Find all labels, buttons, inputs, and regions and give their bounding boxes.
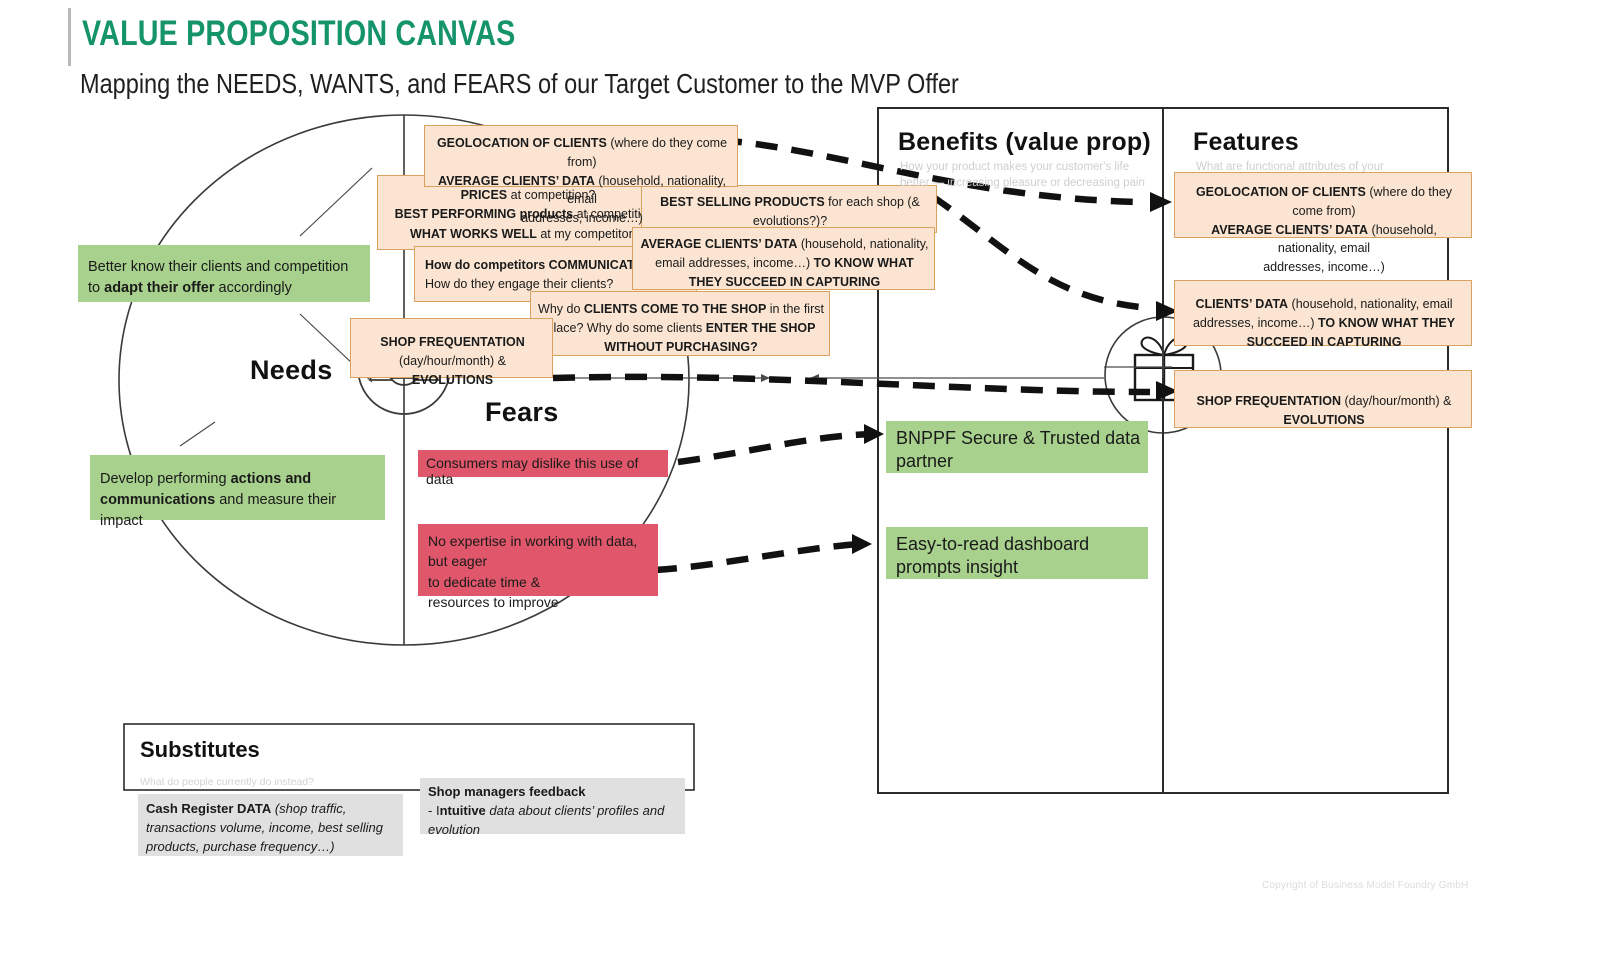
feat3-l1: (day/hour/month) & (1341, 394, 1451, 408)
feature-box-clients-data[interactable]: CLIENTS’ DATA (household, nationality, e… (1174, 280, 1472, 346)
note6-l3: Why do some clients (587, 321, 706, 335)
fear-2-line-2: to dedicate time & (428, 572, 650, 592)
feat3-l1-bold: SHOP FREQUENTATION (1197, 394, 1341, 408)
benefit-box-dashboard[interactable]: Easy-to-read dashboard prompts insight (886, 527, 1148, 579)
benefits-subtitle-line-2: better — increasing pleasure or decreasi… (900, 176, 1150, 192)
arrow-data-to-feature (932, 196, 1150, 308)
substitute-box-cash-register[interactable]: Cash Register DATA (shop traffic, transa… (138, 794, 403, 856)
feat2-l1-bold: CLIENTS’ DATA (1195, 297, 1288, 311)
feat2-l2: income…) (1258, 316, 1318, 330)
title-accent-rule (68, 8, 71, 66)
note2-l3-bold: WHAT WORKS WELL (410, 227, 537, 241)
page-title: VALUE PROPOSITION CANVAS (82, 14, 515, 54)
note7-l2: month) & (455, 354, 506, 368)
note1-l1-bold: GEOLOCATION OF CLIENTS (437, 136, 607, 150)
note7-l1-bold: SHOP FREQUENTATION (380, 335, 524, 349)
note3-l1-bold: How do competitors COMMUNICATE? (425, 258, 650, 272)
outcome-1-text-b: accordingly (215, 280, 292, 296)
substitutes-question: What do people currently do instead? (140, 776, 314, 788)
benefit-box-secure-trusted[interactable]: BNPPF Secure & Trusted data partner (886, 421, 1148, 473)
outcome-1-text-bold: adapt their offer (104, 280, 214, 296)
feat1-l2-bold: AVERAGE CLIENTS’ DATA (1211, 223, 1368, 237)
note1-l3: addresses, income…) (521, 211, 643, 225)
note-geolocation-of-clients[interactable]: GEOLOCATION OF CLIENTS (where do they co… (424, 125, 738, 187)
benefits-subtitle-line-1: How your product makes your customer's l… (900, 160, 1150, 176)
note6-l1: Why do (538, 302, 584, 316)
substitute-2-a: - I (428, 803, 440, 818)
substitute-1-bold: Cash Register DATA (146, 801, 271, 816)
fear-2-line-3: resources to improve (428, 592, 650, 612)
copyright-notice: Copyright of Business Model Foundry GmbH (1262, 880, 1468, 891)
note-average-clients-data[interactable]: AVERAGE CLIENTS’ DATA (household, nation… (632, 227, 935, 290)
note5-l2: addresses, income…) (689, 256, 814, 270)
note1-l2-bold: AVERAGE CLIENTS’ DATA (438, 174, 595, 188)
note3-l2: How do they engage their clients? (425, 277, 613, 291)
feature-box-shop-frequentation[interactable]: SHOP FREQUENTATION (day/hour/month) & EV… (1174, 370, 1472, 428)
fears-label: Fears (485, 397, 559, 428)
fear-box-dislike-data[interactable]: Consumers may dislike this use of data (418, 450, 668, 477)
note5-l4-bold: CAPTURING (806, 275, 880, 289)
substitute-box-shop-managers[interactable]: Shop managers feedback - Intuitive data … (420, 778, 685, 834)
fear-box-no-expertise[interactable]: No expertise in working with data, but e… (418, 524, 658, 596)
note7-l1: (day/hour/ (399, 354, 455, 368)
benefit-2-line-1: Easy-to-read dashboard (896, 533, 1144, 556)
note6-l2-bold: CLIENTS COME TO THE SHOP (584, 302, 766, 316)
features-heading: Features (1193, 128, 1299, 157)
substitute-2-b: ntuitive (440, 803, 486, 818)
green-outcome-box-2[interactable]: Develop performing actions and communica… (90, 455, 385, 520)
arrow-frequentation-to-feature (553, 377, 1150, 392)
needs-label: Needs (250, 355, 333, 386)
note2-l3: at my competitors? (537, 227, 646, 241)
value-proposition-canvas: VALUE PROPOSITION CANVAS Mapping the NEE… (0, 0, 1600, 959)
arrow-fear2-to-benefit (655, 544, 860, 570)
outcome-leader-lines (180, 168, 372, 446)
outcome-2-text-a: Develop performing (100, 471, 231, 487)
benefits-subtitle: How your product makes your customer's l… (900, 160, 1150, 191)
benefit-1-line-2: partner (896, 450, 1144, 473)
benefit-2-line-2: prompts insight (896, 556, 1144, 579)
feat3-l2-bold: EVOLUTIONS (1283, 413, 1364, 427)
arrow-fear-to-benefit (678, 434, 872, 462)
feat1-l1-bold: GEOLOCATION OF CLIENTS (1196, 185, 1366, 199)
benefits-heading: Benefits (value prop) (898, 128, 1151, 157)
green-outcome-box-1[interactable]: Better know their clients and competitio… (78, 245, 370, 302)
note7-l3-bold: EVOLUTIONS (412, 373, 493, 387)
feature-box-geolocation[interactable]: GEOLOCATION OF CLIENTS (where do they co… (1174, 172, 1472, 238)
fear-1-text: Consumers may dislike this use of data (426, 455, 638, 487)
benefit-1-line-1: BNPPF Secure & Trusted data (896, 427, 1144, 450)
substitute-2-bold: Shop managers feedback (428, 784, 586, 799)
note5-l1-bold: AVERAGE CLIENTS’ DATA (640, 237, 797, 251)
feat1-l3: addresses, income…) (1263, 260, 1385, 274)
substitutes-heading: Substitutes (140, 737, 260, 763)
page-subtitle: Mapping the NEEDS, WANTS, and FEARS of o… (80, 68, 959, 100)
note-shop-frequentation[interactable]: SHOP FREQUENTATION (day/hour/month) & EV… (350, 318, 553, 378)
note-why-clients-come[interactable]: Why do CLIENTS COME TO THE SHOP in the f… (530, 291, 830, 356)
fear-2-line-1: No expertise in working with data, but e… (428, 531, 650, 572)
